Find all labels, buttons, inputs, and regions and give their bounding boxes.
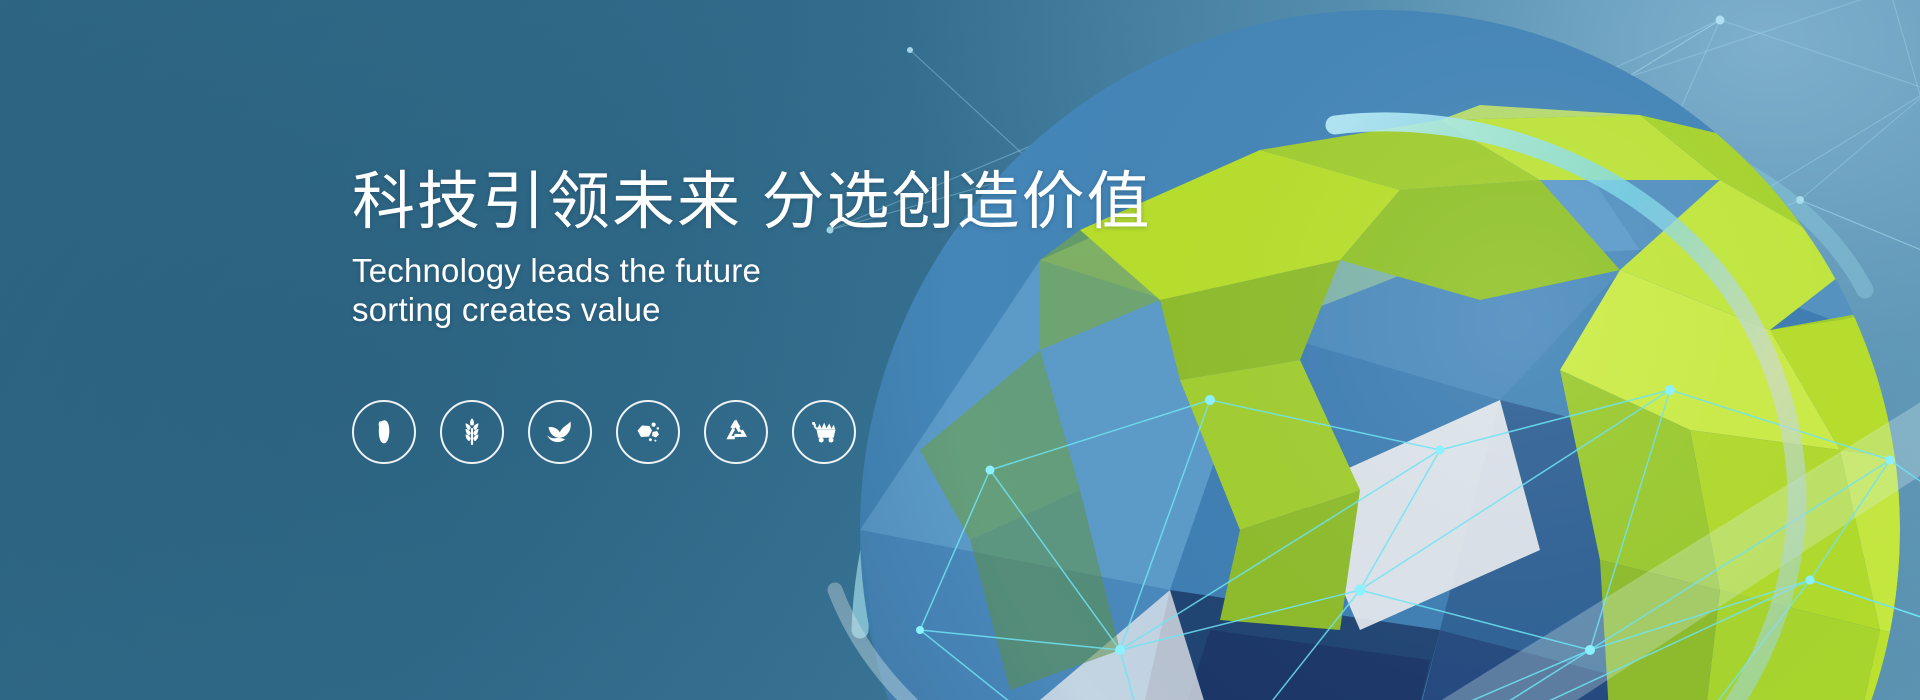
background-vignette: [0, 0, 1920, 700]
subtitle-line-2: sorting creates value: [352, 291, 1112, 330]
subtitle: Technology leads the future sorting crea…: [352, 252, 1112, 330]
hero-copy: 科技引领未来 分选创造价值 Technology leads the futur…: [352, 168, 1112, 330]
icon-chip-recycle[interactable]: [704, 400, 768, 464]
page-title: 科技引领未来 分选创造价值: [352, 168, 1112, 236]
mineral-ore-icon: [631, 415, 665, 449]
leaf-icon: [543, 415, 577, 449]
icon-chip-wheat-ear[interactable]: [440, 400, 504, 464]
icon-chip-rice-grain[interactable]: [352, 400, 416, 464]
recycle-icon: [720, 416, 752, 448]
icon-chip-leaf[interactable]: [528, 400, 592, 464]
wheat-ear-icon: [456, 416, 488, 448]
hero-banner: 科技引领未来 分选创造价值 Technology leads the futur…: [0, 0, 1920, 700]
subtitle-line-1: Technology leads the future: [352, 252, 1112, 291]
icon-chip-mining-cart[interactable]: [792, 400, 856, 464]
industry-icon-row: [352, 400, 856, 464]
rice-grain-icon: [369, 417, 399, 447]
icon-chip-mineral-ore[interactable]: [616, 400, 680, 464]
mining-cart-icon: [807, 415, 841, 449]
